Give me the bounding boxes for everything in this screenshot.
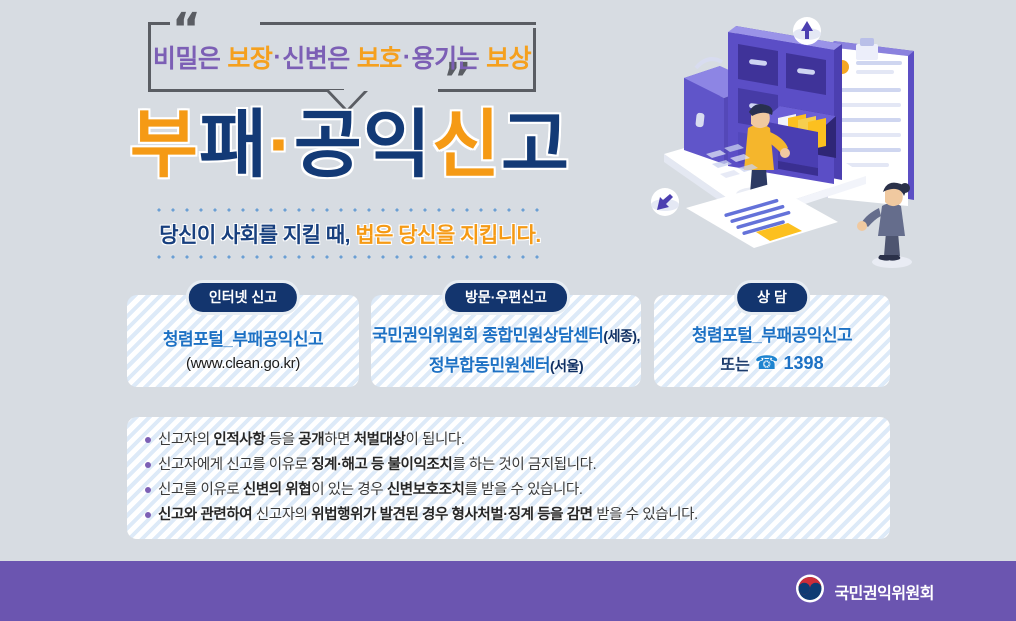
dotted-rule-bottom: [152, 255, 548, 259]
taegeuk-logo-icon: [795, 574, 825, 609]
notice-item: 신고자에게 신고를 이유로 징계·해고 등 불이익조치를 하는 것이 금지됩니다…: [145, 456, 890, 474]
footer-brand: 국민권익위원회: [795, 574, 934, 609]
quote-segment-6: 용기는: [412, 39, 480, 75]
quote-segment-1: 보장: [227, 39, 272, 75]
title-char-2: ·: [268, 103, 294, 186]
notice-text-1: 신고자에게 신고를 이유로 징계·해고 등 불이익조치를 하는 것이 금지됩니다…: [158, 456, 596, 474]
card-visit-center-seoul: 정부합동민원센터(서울): [429, 351, 583, 376]
notice-bullet-icon: [145, 437, 151, 443]
notice-item: 신고와 관련하여 신고자의 위법행위가 발견된 경우 형사처벌·징계 등을 감면…: [145, 506, 890, 524]
whistleblowing-illustration: [620, 8, 926, 280]
arrow-up-badge: [793, 17, 821, 45]
contact-card-internet[interactable]: 인터넷 신고 청렴포털_부패공익신고 (www.clean.go.kr): [127, 295, 359, 387]
telephone-icon: ☎: [755, 354, 779, 373]
center-name-sejong: 국민권익위원회 종합민원상담센터: [372, 326, 603, 345]
subtitle-text: 당신이 사회를 지킬 때, 법은 당신을 지킵니다.: [0, 219, 700, 249]
quote-segment-2: ·: [272, 43, 282, 72]
quote-text: 비밀은보장·신변은보호·용기는보상: [148, 22, 536, 92]
quote-segment-7: 보상: [486, 39, 531, 75]
infographic-page: “ ” 비밀은보장·신변은보호·용기는보상 부패·공익신고 당신이 사회를 지킬…: [0, 0, 1016, 621]
quote-segment-0: 비밀은: [153, 39, 221, 75]
notice-panel: 신고자의 인적사항 등을 공개하면 처벌대상이 됩니다.신고자에게 신고를 이유…: [127, 417, 890, 539]
card-badge-consultation: 상 담: [737, 283, 807, 312]
arrow-down-left-badge: [651, 188, 679, 216]
phone-prefix-label: 또는: [720, 351, 749, 375]
center-suffix-sejong: (세종),: [603, 328, 639, 344]
dotted-rule-top: [152, 208, 548, 212]
title-char-5: 신: [432, 103, 501, 186]
notice-bullet-icon: [145, 462, 151, 468]
card-consultation-portal-name: 청렴포털_부패공익신고: [692, 321, 852, 346]
phone-number: 1398: [784, 353, 824, 374]
card-visit-center-sejong: 국민권익위원회 종합민원상담센터(세종),: [372, 321, 640, 346]
notice-bullet-icon: [145, 487, 151, 493]
title-char-1: 패: [199, 103, 268, 186]
quote-segment-4: 보호: [357, 39, 402, 75]
center-suffix-seoul: (서울): [550, 358, 583, 374]
subtitle-part-orange: 법은 당신을 지킵니다.: [355, 224, 540, 247]
card-internet-url[interactable]: (www.clean.go.kr): [186, 355, 300, 372]
subtitle-block: 당신이 사회를 지킬 때, 법은 당신을 지킵니다.: [0, 208, 700, 259]
notice-bullet-icon: [145, 512, 151, 518]
contact-card-visit-mail[interactable]: 방문·우편신고 국민권익위원회 종합민원상담센터(세종), 정부합동민원센터(서…: [371, 295, 641, 387]
card-badge-visit-mail: 방문·우편신고: [445, 283, 567, 312]
card-consultation-phone[interactable]: 또는 ☎ 1398: [720, 351, 823, 375]
page-title: 부패·공익신고: [0, 108, 700, 182]
title-char-6: 고: [501, 103, 570, 186]
title-char-4: 익: [363, 103, 432, 186]
notice-text-3: 신고와 관련하여 신고자의 위법행위가 발견된 경우 형사처벌·징계 등을 감면…: [158, 506, 698, 524]
notice-item: 신고자의 인적사항 등을 공개하면 처벌대상이 됩니다.: [145, 431, 890, 449]
quote-segment-5: ·: [402, 43, 412, 72]
card-badge-internet: 인터넷 신고: [189, 283, 297, 312]
center-name-seoul: 정부합동민원센터: [429, 356, 550, 375]
card-internet-portal-name: 청렴포털_부패공익신고: [163, 325, 323, 350]
notice-text-0: 신고자의 인적사항 등을 공개하면 처벌대상이 됩니다.: [158, 431, 465, 449]
title-char-0: 부: [130, 103, 199, 186]
quote-banner: “ ” 비밀은보장·신변은보호·용기는보상: [148, 22, 536, 92]
subtitle-part-navy: 당신이 사회를 지킬 때,: [159, 224, 355, 247]
quote-segment-3: 신변은: [282, 39, 350, 75]
notice-item: 신고를 이유로 신변의 위협이 있는 경우 신변보호조치를 받을 수 있습니다.: [145, 481, 890, 499]
title-char-3: 공: [294, 103, 363, 186]
footer-bar: 국민권익위원회: [0, 561, 1016, 621]
notice-text-2: 신고를 이유로 신변의 위협이 있는 경우 신변보호조치를 받을 수 있습니다.: [158, 481, 583, 499]
contact-card-consultation[interactable]: 상 담 청렴포털_부패공익신고 또는 ☎ 1398: [654, 295, 890, 387]
footer-org-name: 국민권익위원회: [834, 579, 934, 603]
